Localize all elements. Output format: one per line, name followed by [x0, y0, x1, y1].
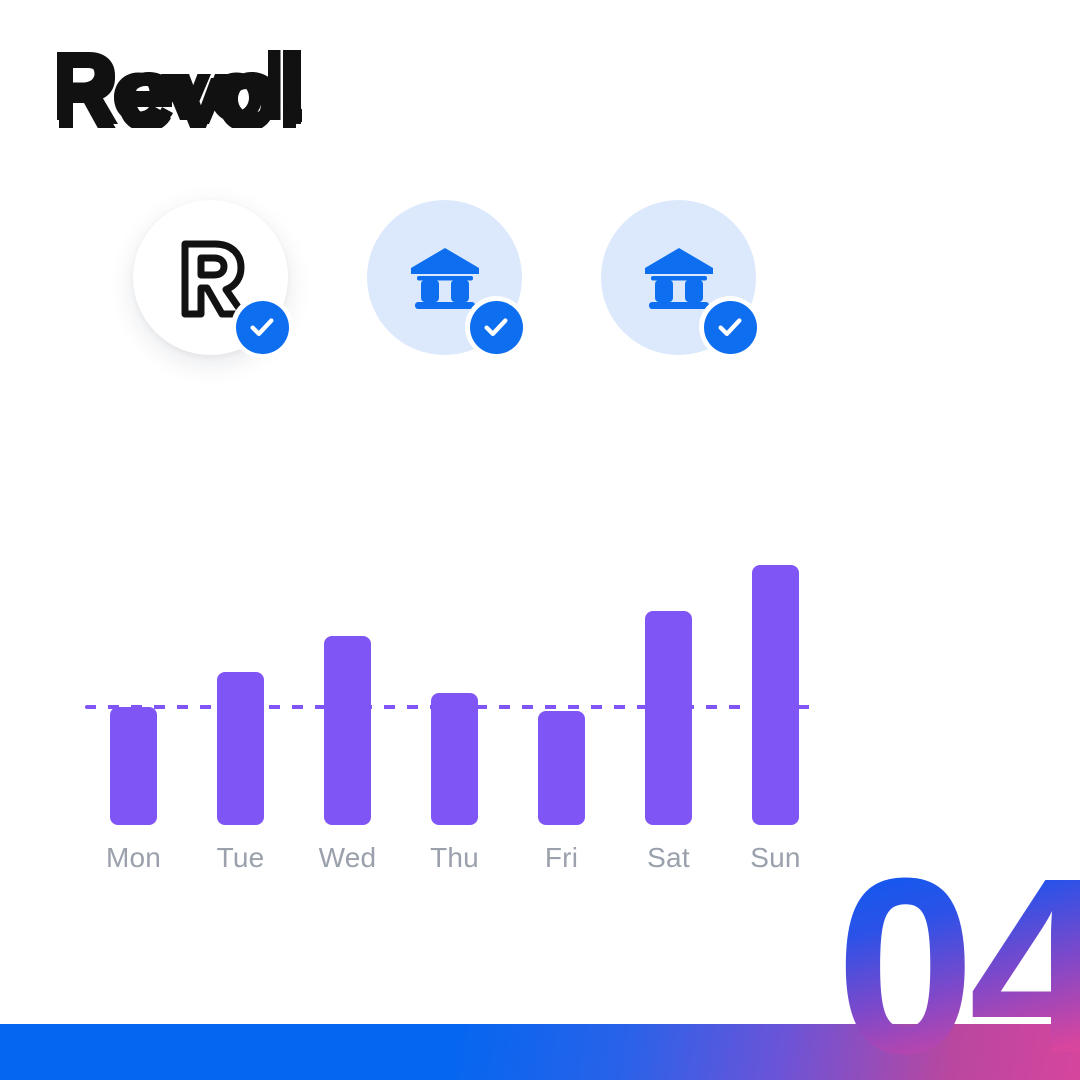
chart-bar: [752, 565, 799, 825]
chart-xtick-label: Sun: [726, 842, 826, 874]
chart-xtick-label: Wed: [298, 842, 398, 874]
bank-icon: [641, 240, 717, 316]
chart-xtick-label: Tue: [191, 842, 291, 874]
chart-bar: [431, 693, 478, 825]
slide-number: 04: [836, 863, 1080, 1068]
chart-bar: [538, 711, 585, 825]
chart-xtick-label: Fri: [512, 842, 612, 874]
chart-bar: [217, 672, 264, 825]
check-icon: [715, 312, 745, 342]
revolut-wordmark: [57, 50, 302, 122]
chart-plot-area: [85, 550, 825, 825]
account-card-bank-1[interactable]: [367, 200, 522, 355]
chart-xtick-label: Mon: [84, 842, 184, 874]
revolut-r-icon: [175, 238, 247, 318]
account-card-bank-2[interactable]: [601, 200, 756, 355]
check-icon: [481, 312, 511, 342]
bank-icon: [407, 240, 483, 316]
linked-accounts-row: [120, 195, 840, 395]
chart-average-line: [85, 705, 818, 709]
verified-badge: [465, 296, 527, 358]
verified-badge-circle: [236, 301, 289, 354]
chart-xtick-label: Sat: [619, 842, 719, 874]
verified-badge-circle: [704, 301, 757, 354]
chart-xtick-label: Thu: [405, 842, 505, 874]
verified-badge-circle: [470, 301, 523, 354]
chart-bar: [645, 611, 692, 825]
chart-xaxis-labels: MonTueWedThuFriSatSun: [85, 842, 825, 878]
verified-badge: [231, 296, 293, 358]
chart-bar: [324, 636, 371, 825]
check-icon: [247, 312, 277, 342]
chart-bar: [110, 707, 157, 825]
verified-badge: [699, 296, 761, 358]
slide-canvas: MonTueWedThuFriSatSun 04: [0, 0, 1080, 1080]
account-card-revolut[interactable]: [133, 200, 288, 355]
